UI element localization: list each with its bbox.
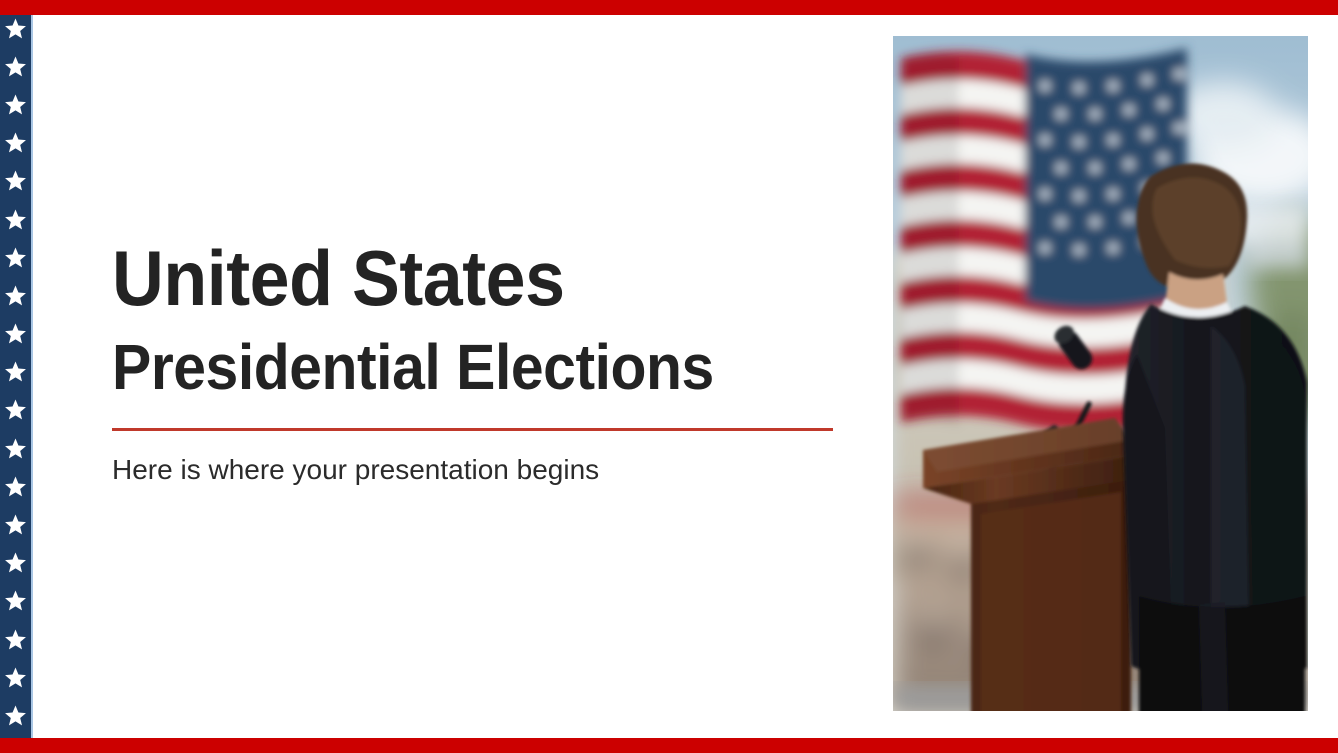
bottom-red-bar bbox=[0, 738, 1338, 753]
star-icon bbox=[4, 284, 27, 307]
star-icon bbox=[4, 208, 27, 231]
star-icon bbox=[4, 131, 27, 154]
page-title-line-2: Presidential Elections bbox=[112, 330, 784, 404]
star-icon bbox=[4, 551, 27, 574]
presentation-slide: United States Presidential Elections Her… bbox=[0, 0, 1338, 753]
star-icon bbox=[4, 475, 27, 498]
star-icon bbox=[4, 589, 27, 612]
page-title-line-1: United States bbox=[112, 236, 784, 320]
star-icon bbox=[4, 322, 27, 345]
title-text-block: United States Presidential Elections Her… bbox=[112, 236, 842, 487]
star-icon bbox=[4, 628, 27, 651]
star-icon bbox=[4, 360, 27, 383]
star-icon bbox=[4, 246, 27, 269]
podium-speaker-photo bbox=[893, 36, 1308, 711]
star-icon bbox=[4, 169, 27, 192]
subtitle-text: Here is where your presentation begins bbox=[112, 431, 842, 487]
star-icon bbox=[4, 55, 27, 78]
star-icon bbox=[4, 17, 27, 40]
star-column bbox=[0, 15, 31, 735]
star-icon bbox=[4, 666, 27, 689]
star-icon bbox=[4, 513, 27, 536]
star-icon bbox=[4, 398, 27, 421]
star-icon bbox=[4, 93, 27, 116]
top-red-bar bbox=[0, 0, 1338, 15]
star-strip bbox=[0, 15, 33, 738]
star-icon bbox=[4, 437, 27, 460]
star-icon bbox=[4, 704, 27, 727]
